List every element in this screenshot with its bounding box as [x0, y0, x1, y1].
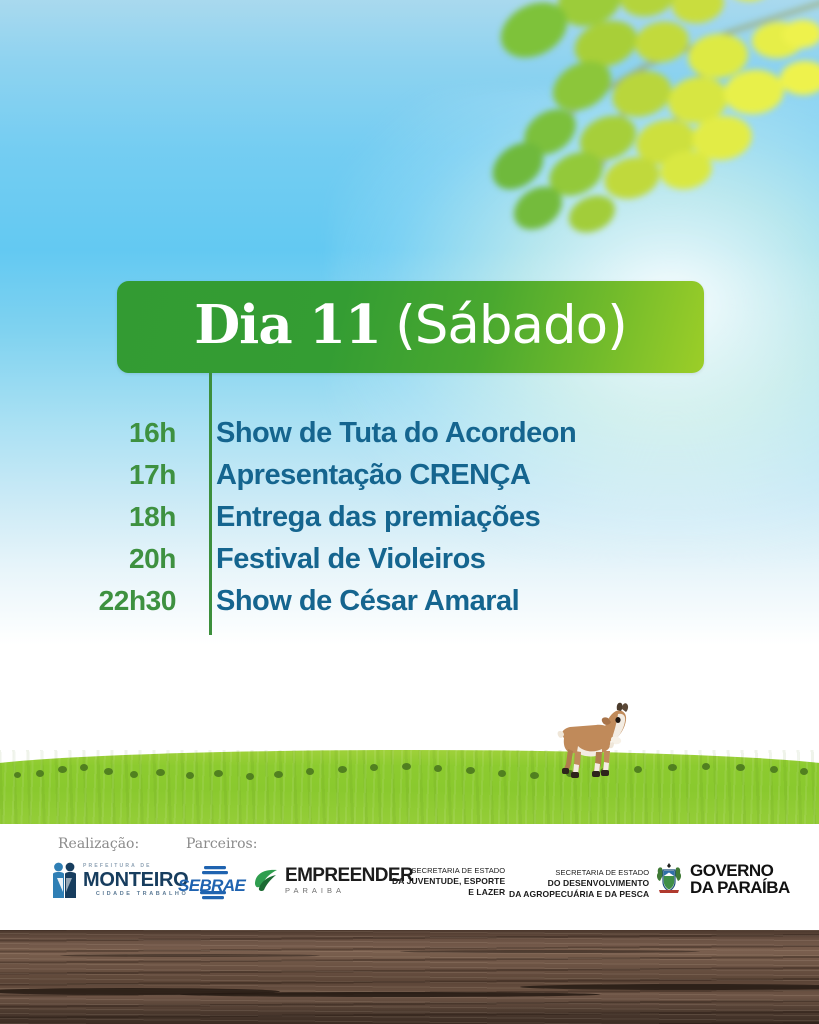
schedule-row: 20h Festival de Violeiros — [0, 543, 600, 585]
day-banner-text: Dia 11 (Sábado) — [194, 299, 627, 352]
bush — [274, 771, 283, 778]
logo-secretaria-desenvolvimento: SECRETARIA DE ESTADO DO DESENVOLVIMENTO … — [509, 868, 649, 900]
bush — [58, 766, 67, 773]
sec-desenvolvimento-line1: SECRETARIA DE ESTADO — [509, 868, 649, 878]
schedule-time: 20h — [0, 543, 194, 575]
bush — [800, 768, 808, 775]
wood-crack — [60, 954, 320, 957]
paraiba-crest-svg — [654, 862, 684, 896]
schedule-row: 18h Entrega das premiações — [0, 501, 600, 543]
goat-svg — [548, 702, 632, 784]
wood-crack — [400, 950, 700, 953]
bush — [214, 770, 223, 777]
sec-desenvolvimento-line2: DO DESENVOLVIMENTO — [509, 878, 649, 889]
sec-desenvolvimento-line3: DA AGROPECUÁRIA E DA PESCA — [509, 889, 649, 900]
grass-surface — [0, 750, 819, 824]
bush — [338, 766, 347, 773]
weekday-label: (Sábado) — [395, 295, 627, 356]
bush — [498, 770, 506, 777]
bush — [402, 763, 411, 770]
bush — [186, 772, 194, 779]
sec-juventude-line1: SECRETARIA DE ESTADO — [392, 866, 505, 876]
day-banner: Dia 11 (Sábado) — [117, 281, 704, 373]
bush — [434, 765, 442, 772]
schedule-title: Show de Tuta do Acordeon — [194, 417, 576, 450]
bush — [36, 770, 44, 777]
leaf-branch-svg — [430, 0, 819, 260]
empreender-swoosh-svg — [253, 868, 279, 892]
schedule-time: 18h — [0, 501, 194, 533]
monteiro-wordmark: PREFEITURA DE MONTEIRO CIDADE TRABALHO — [83, 864, 188, 898]
logo-monteiro: PREFEITURA DE MONTEIRO CIDADE TRABALHO — [52, 862, 188, 900]
bush — [668, 764, 677, 771]
paraiba-coat-of-arms-icon — [654, 862, 684, 896]
schedule-time: 17h — [0, 459, 194, 491]
schedule-rows: 16h Show de Tuta do Acordeon 17h Apresen… — [0, 417, 600, 627]
goat-icon — [548, 702, 632, 784]
schedule-time: 22h30 — [0, 585, 194, 617]
logo-governo-paraiba: GOVERNO DA PARAÍBA — [654, 862, 790, 897]
bush — [306, 768, 314, 775]
monteiro-bottom-text: CIDADE TRABALHO — [83, 892, 188, 898]
governo-line2: DA PARAÍBA — [690, 879, 790, 896]
leaf-branch-icon — [430, 0, 819, 260]
realizacao-label: Realização: — [58, 836, 139, 852]
grass-texture — [0, 750, 819, 824]
parceiros-label: Parceiros: — [186, 836, 257, 852]
governo-line1: GOVERNO — [690, 862, 790, 879]
bush — [702, 763, 710, 770]
schedule-title: Apresentação CRENÇA — [194, 459, 530, 492]
bush — [80, 764, 88, 771]
sponsor-footer: Realização: Parceiros: PREFEITU — [0, 824, 819, 930]
governo-wordmark: GOVERNO DA PARAÍBA — [690, 862, 790, 897]
sebrae-bars-icon: SEBRAE — [178, 866, 240, 900]
wood-plank-footer — [0, 930, 819, 1024]
sebrae-wordmark: SEBRAE — [178, 876, 245, 896]
schedule-title: Entrega das premiações — [194, 501, 540, 534]
secretaria-desenvolvimento-text: SECRETARIA DE ESTADO DO DESENVOLVIMENTO … — [509, 868, 649, 900]
bush — [156, 769, 165, 776]
logo-empreender: EMPREENDER PARAIBA — [253, 866, 413, 895]
schedule-row: 22h30 Show de César Amaral — [0, 585, 600, 627]
monteiro-main-text: MONTEIRO — [83, 871, 188, 890]
wood-crack — [180, 992, 600, 997]
bush — [736, 764, 745, 771]
bush — [370, 764, 378, 771]
empreender-swoosh-icon — [253, 868, 279, 892]
bush — [14, 772, 21, 778]
day-label: Dia 11 — [194, 294, 381, 356]
logo-secretaria-juventude: SECRETARIA DE ESTADO DA JUVENTUDE, ESPOR… — [392, 866, 505, 898]
event-poster: Dia 11 (Sábado) 16h Show de Tuta do Acor… — [0, 0, 819, 1024]
bush — [770, 766, 778, 773]
monteiro-figure-icon — [52, 862, 78, 900]
schedule-row: 17h Apresentação CRENÇA — [0, 459, 600, 501]
grass-field — [0, 700, 819, 824]
schedule-title: Festival de Violeiros — [194, 543, 485, 576]
logo-row: PREFEITURA DE MONTEIRO CIDADE TRABALHO — [0, 860, 819, 918]
bush — [104, 768, 113, 775]
bush — [634, 766, 642, 773]
bush — [530, 772, 539, 779]
wood-grain-texture — [0, 930, 819, 1024]
logo-sebrae: SEBRAE — [178, 866, 240, 900]
schedule-title: Show de César Amaral — [194, 585, 519, 618]
bush — [466, 767, 475, 774]
footer-labels: Realização: Parceiros: — [0, 836, 819, 856]
sec-juventude-line3: E LAZER — [392, 887, 505, 898]
bush — [246, 773, 254, 780]
schedule-time: 16h — [0, 417, 194, 449]
schedule-row: 16h Show de Tuta do Acordeon — [0, 417, 600, 459]
secretaria-juventude-text: SECRETARIA DE ESTADO DA JUVENTUDE, ESPOR… — [392, 866, 505, 898]
sec-juventude-line2: DA JUVENTUDE, ESPORTE — [392, 876, 505, 887]
bush — [130, 771, 138, 778]
monteiro-figure-svg — [52, 862, 78, 900]
